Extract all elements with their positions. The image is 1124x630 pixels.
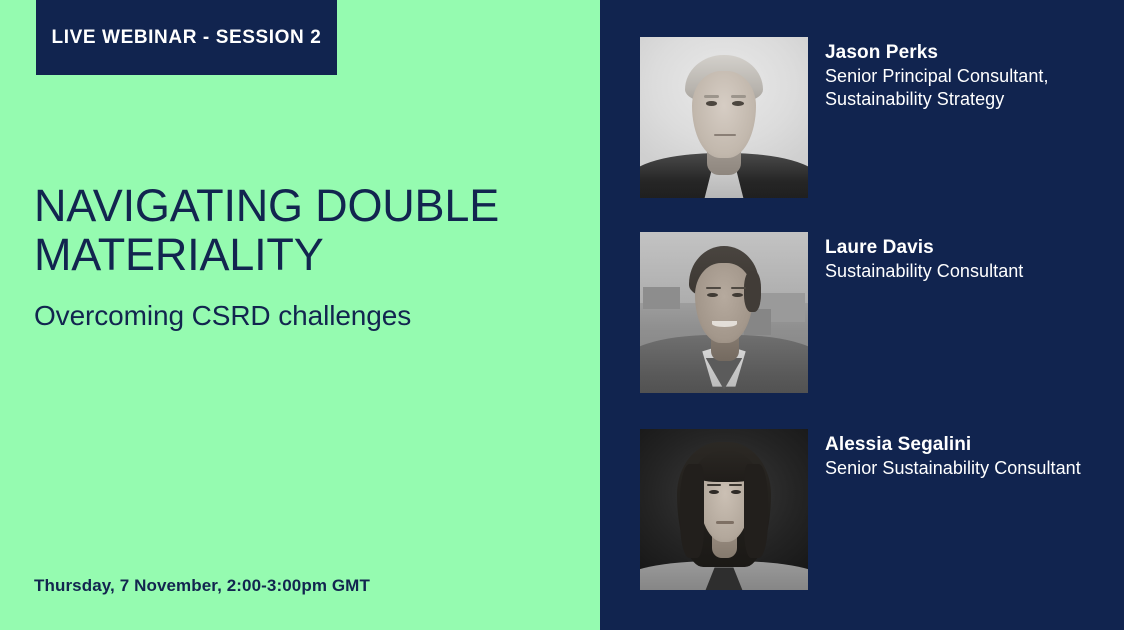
speaker-photo-laure-davis — [640, 232, 808, 393]
speaker-name: Alessia Segalini — [825, 433, 1081, 457]
session-badge-label: LIVE WEBINAR - SESSION 2 — [52, 28, 322, 47]
page-title: NAVIGATING DOUBLE MATERIALITY — [34, 182, 554, 279]
speaker-photo-alessia-segalini — [640, 429, 808, 590]
webinar-promo-slide: LIVE WEBINAR - SESSION 2 NAVIGATING DOUB… — [0, 0, 1124, 630]
speaker-card-laure-davis: Laure Davis Sustainability Consultant — [640, 232, 1023, 393]
event-datetime: Thursday, 7 November, 2:00-3:00pm GMT — [34, 576, 370, 596]
speaker-card-alessia-segalini: Alessia Segalini Senior Sustainability C… — [640, 429, 1081, 590]
speakers-panel: Jason Perks Senior Principal Consultant,… — [600, 0, 1124, 630]
speaker-name: Jason Perks — [825, 41, 1049, 65]
speaker-info: Laure Davis Sustainability Consultant — [825, 232, 1023, 283]
speaker-info: Alessia Segalini Senior Sustainability C… — [825, 429, 1081, 480]
speaker-role: Senior Principal Consultant, Sustainabil… — [825, 65, 1049, 111]
speaker-info: Jason Perks Senior Principal Consultant,… — [825, 37, 1049, 111]
page-subtitle: Overcoming CSRD challenges — [34, 299, 554, 333]
speaker-role: Senior Sustainability Consultant — [825, 457, 1081, 480]
speaker-name: Laure Davis — [825, 236, 1023, 260]
session-badge: LIVE WEBINAR - SESSION 2 — [36, 0, 337, 75]
left-content-panel: LIVE WEBINAR - SESSION 2 NAVIGATING DOUB… — [0, 0, 600, 630]
speaker-card-jason-perks: Jason Perks Senior Principal Consultant,… — [640, 37, 1049, 198]
speaker-role: Sustainability Consultant — [825, 260, 1023, 283]
speaker-photo-jason-perks — [640, 37, 808, 198]
